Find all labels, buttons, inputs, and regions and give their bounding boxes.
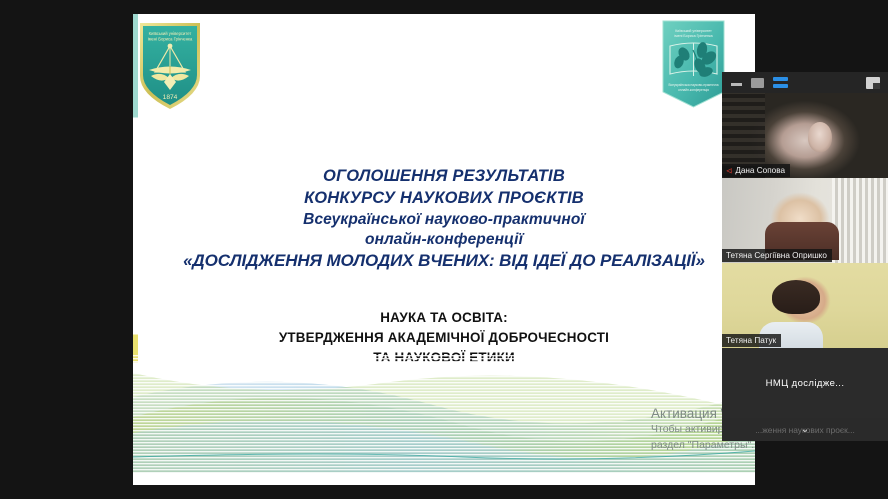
window-mode-icon[interactable] [751, 78, 764, 88]
title-line-1: ОГОЛОШЕННЯ РЕЗУЛЬТАТІВ [133, 166, 755, 188]
participant-name: Тетяна Сергіївна Опришко [726, 251, 827, 260]
svg-text:Всеукраїнська науково-практичн: Всеукраїнська науково-практична [669, 83, 719, 87]
svg-text:1874: 1874 [163, 94, 178, 101]
minimize-icon[interactable] [731, 83, 742, 86]
participant-nametag: Тетяна Сергіївна Опришко [722, 249, 832, 262]
subtitle-line-1: НАУКА ТА ОСВІТА: [133, 308, 755, 328]
participant-name: Тетяна Патук [726, 336, 776, 345]
slide-decorative-wave [133, 355, 755, 485]
participant-name: Дана Сопова [735, 166, 785, 175]
svg-text:онлайн-конференція: онлайн-конференція [678, 88, 709, 92]
video-panel-titlebar [722, 72, 888, 93]
conference-emblem-icon: Київський університет імені Бориса Грінч… [662, 20, 725, 108]
svg-text:імені Бориса Грінченка: імені Бориса Грінченка [674, 34, 712, 38]
video-panel-footer[interactable]: ...ження наукових проєк... ⌄ [722, 418, 888, 441]
participant-tile[interactable]: Тетяна Сергіївна Опришко [722, 178, 888, 263]
title-line-4: онлайн-конференції [133, 230, 755, 250]
participant-nametag: Тетяна Патук [722, 334, 781, 347]
shared-content-tile[interactable]: НМЦ дослідже... [722, 348, 888, 418]
title-line-5: «ДОСЛІДЖЕННЯ МОЛОДИХ ВЧЕНИХ: ВІД ІДЕЇ ДО… [133, 250, 755, 272]
svg-text:Київський університет: Київський університет [149, 31, 192, 36]
title-line-3: Всеукраїнської науково-практичної [133, 210, 755, 230]
university-emblem-icon: Київський університет імені Бориса Грінч… [137, 20, 203, 112]
gallery-view-icon[interactable] [773, 77, 788, 88]
subtitle-line-2: УТВЕРДЖЕННЯ АКАДЕМІЧНОЇ ДОБРОЧЕСНОСТІ [133, 328, 755, 348]
screen-root: Київський університет імені Бориса Грінч… [0, 0, 888, 499]
participant-tile[interactable]: ⏿ Дана Сопова [722, 93, 888, 178]
svg-text:імені Бориса Грінченка: імені Бориса Грінченка [148, 37, 193, 42]
participant-nametag: ⏿ Дана Сопова [722, 164, 790, 177]
video-conference-panel[interactable]: ⏿ Дана Сопова Тетяна Сергіївна Опришко Т… [722, 72, 888, 427]
svg-text:Київський університет: Київський університет [675, 29, 712, 33]
slide-title-block: ОГОЛОШЕННЯ РЕЗУЛЬТАТІВ КОНКУРСУ НАУКОВИХ… [133, 166, 755, 273]
shared-content-label: НМЦ дослідже... [766, 378, 845, 389]
mic-muted-icon: ⏿ [726, 166, 732, 175]
chevron-down-icon[interactable]: ⌄ [801, 425, 809, 435]
title-line-2: КОНКУРСУ НАУКОВИХ ПРОЄКТІВ [133, 188, 755, 210]
participant-tile-active-speaker[interactable]: Тетяна Патук [722, 263, 888, 348]
shared-slide: Київський університет імені Бориса Грінч… [133, 14, 755, 485]
restore-window-icon[interactable] [866, 77, 880, 89]
